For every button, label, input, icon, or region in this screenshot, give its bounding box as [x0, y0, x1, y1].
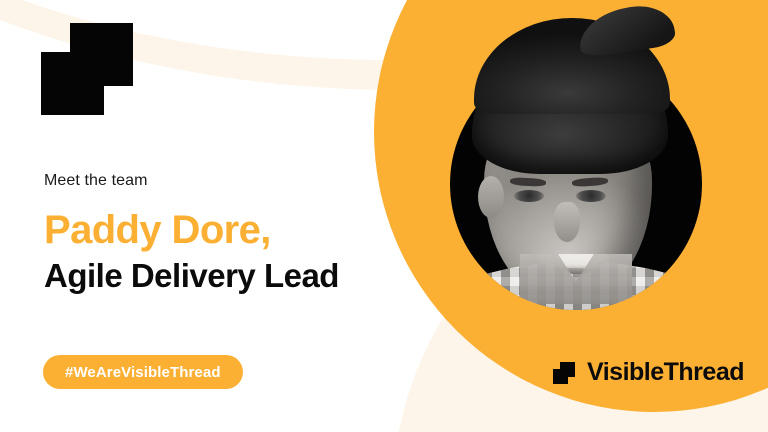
portrait-ear [478, 176, 504, 218]
portrait-nose [554, 202, 580, 242]
logo-square-bottom-left [41, 52, 104, 115]
portrait-eye-right [576, 190, 606, 202]
footer-logo-square-bottom-left [553, 369, 568, 384]
person-name: Paddy Dore, [44, 206, 444, 254]
promo-card: Meet the team Paddy Dore, Agile Delivery… [0, 0, 768, 432]
visiblethread-logo-icon [41, 23, 133, 115]
copy-block: Meet the team Paddy Dore, Agile Delivery… [44, 170, 444, 298]
eyebrow-text: Meet the team [44, 170, 444, 192]
person-role: Agile Delivery Lead [44, 254, 444, 298]
portrait-eye-left [514, 190, 544, 202]
visiblethread-footer-logo-icon [553, 362, 575, 384]
footer-brand: VisibleThread [553, 360, 744, 385]
hashtag-badge: #WeAreVisibleThread [43, 355, 243, 389]
brand-wordmark: VisibleThread [587, 360, 744, 385]
